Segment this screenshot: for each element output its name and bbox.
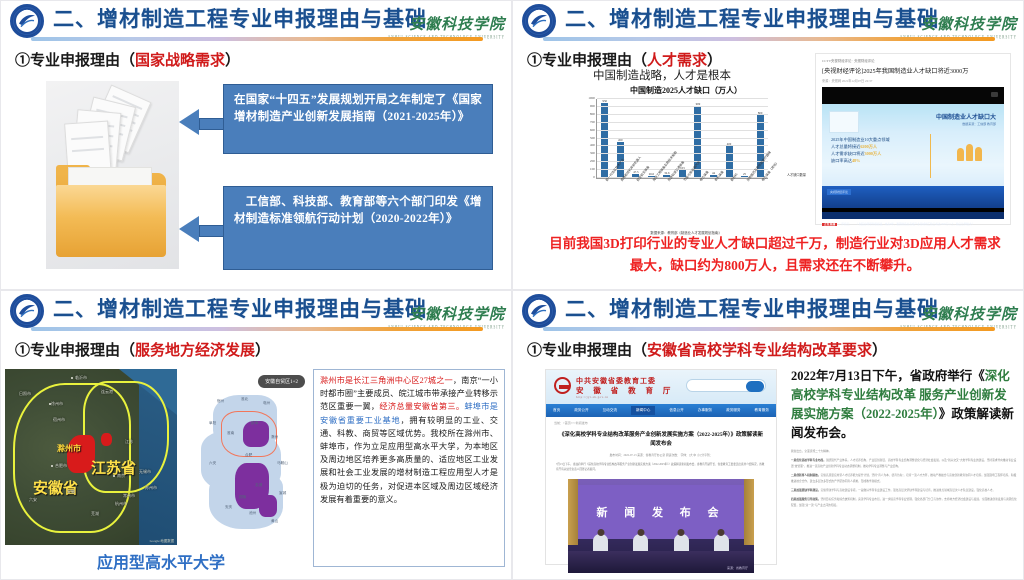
tv-stat-line-4: 缺口率高达48% — [831, 157, 890, 164]
policy-detail-paragraphs: 我省出台，全面贯彻二十大精神。 一是优化高校学科专业布局。围绕现代产业体系，人才… — [791, 449, 1017, 512]
tv-stat-line-3: 人才需求缺口将近3000万人 — [831, 150, 890, 157]
chart-title: 中国制造2025人才缺口（万人） — [566, 85, 806, 96]
search-icon[interactable] — [746, 381, 764, 392]
prov-city: 合肥 — [245, 453, 252, 458]
callout-box-standards-plan: 工信部、科技部、教育部等六个部门印发《增材制造标准领航行动计划（2020-202… — [223, 186, 493, 270]
slide-1: 二、增材制造工程专业申报理由与基础 安徽科技学院 ANHUI SCIENCE A… — [0, 0, 512, 290]
chart-gridline: 500 — [597, 138, 768, 139]
slide-4-header: 二、增材制造工程专业申报理由与基础 安徽科技学院 ANHUI SCIENCE A… — [513, 291, 1023, 333]
slide-4-subtitle: ①专业申报理由（安徽省高校学科专业结构改革要求） — [527, 339, 887, 360]
map-attribution: Google 地图数据 — [150, 538, 174, 543]
tv-stat-lines: 2025年中国制造业10大重点领域 人才总量将接近6200万人 人才需求缺口将近… — [831, 136, 890, 164]
university-signature: 安徽科技学院 ANHUI SCIENCE AND TECHNOLOGY UNIV… — [388, 303, 505, 329]
map-city: 临沂市 — [75, 375, 87, 381]
chart-gridline: 100 — [597, 169, 768, 170]
chart-bars: 95045047.526.632.61039094440025800 — [597, 99, 768, 178]
talent-gap-bar-chart: 中国制造2025人才缺口（万人） 95045047.526.632.610390… — [566, 85, 806, 235]
chart-gridline: 400 — [597, 145, 768, 146]
subtitle-highlight: 服务地方经济发展 — [135, 343, 255, 359]
extra-zone — [259, 495, 277, 517]
site-navigation[interactable]: 首页政务公开互动交流新闻中心信息公开办事服务政务服务教育服务 — [546, 404, 776, 417]
slide-title: 二、增材制造工程专业申报理由与基础 — [565, 3, 939, 33]
map-city: 苏州市 — [145, 485, 157, 491]
slide-deck: 二、增材制造工程专业申报理由与基础 安徽科技学院 ANHUI SCIENCE A… — [0, 0, 1024, 580]
chart-gridline: 300 — [597, 153, 768, 154]
policy-text-run: 2022 — [791, 369, 816, 383]
prov-city: 阜阳 — [209, 421, 216, 426]
slide-title: 二、增材制造工程专业申报理由与基础 — [53, 293, 427, 323]
prov-city: 淮南 — [227, 431, 234, 436]
panelists — [568, 531, 754, 551]
map-city: 安徽 — [67, 489, 75, 495]
tv-stat-line-2: 人才总量将接近6200万人 — [831, 143, 890, 150]
chart-y-tick: 300 — [590, 151, 595, 155]
chart-tagline: 中国制造战略，人才是根本 — [593, 67, 731, 83]
logo-bird-icon — [530, 303, 548, 319]
program-tag: 央视财经评论 — [827, 189, 851, 195]
subtitle-suffix: ） — [255, 343, 270, 359]
tv-divider — [930, 134, 931, 178]
chart-y-tick: 400 — [590, 143, 595, 147]
university-crest-logo — [522, 294, 556, 328]
slide-2-header: 二、增材制造工程专业申报理由与基础 安徽科技学院 ANHUI SCIENCE A… — [513, 1, 1023, 43]
press-banner-text: 新 闻 发 布 会 — [597, 504, 726, 520]
slide-3: 二、增材制造工程专业申报理由与基础 安徽科技学院 ANHUI SCIENCE A… — [0, 290, 512, 580]
chart-plot-area: 95045047.526.632.61039094440025800 01002… — [596, 99, 768, 179]
header-accent-rule — [31, 327, 483, 331]
prov-city: 安庆 — [225, 505, 232, 510]
subtitle-highlight: 国家战略需求 — [135, 53, 225, 69]
site-nav-item[interactable]: 办事服务 — [698, 408, 712, 413]
policy-text-run: 年 — [816, 369, 829, 383]
map-city: 常州市 — [123, 493, 135, 499]
map-city: 连云港 — [101, 389, 113, 395]
site-logo-icon — [554, 377, 571, 394]
prov-city: 六安 — [209, 461, 216, 466]
chart-bar-value: 450 — [618, 138, 623, 142]
video-player[interactable]: 中国制造业人才缺口大 数据来源：工信部 教育部 2025年中国制造业10大重点领… — [822, 87, 1004, 219]
chart-y-tick: 500 — [590, 136, 595, 140]
policy-announcement-text: 2022年7月13日下午，省政府举行《深化高校学科专业结构改革 服务产业创新发展… — [791, 367, 1017, 443]
anhui-province-diagram: 安徽自贸区1+2 宿州 淮北 亳州 阜阳 蚌埠 淮南 滁州 合肥 六安 马鞍山 … — [179, 369, 309, 545]
site-article-meta: 发布时间：2022-07-13 来源：省教育厅办公室 阅读次数： 字体：[大 中… — [546, 449, 776, 460]
chart-y-tick: 1000 — [588, 96, 595, 100]
site-nav-item[interactable]: 首页 — [553, 408, 560, 413]
chart-y-tick: 100 — [590, 167, 595, 171]
header-accent-rule — [543, 37, 995, 41]
logo-bird-icon — [18, 13, 36, 29]
policy-text-run: 日下午，省政府举行《 — [860, 369, 985, 383]
university-name-cn: 安徽科技学院 — [900, 303, 1017, 324]
prov-city: 铜陵 — [239, 495, 246, 500]
map-city: 宿州市 — [53, 417, 65, 423]
chart-y-tick: 900 — [590, 104, 595, 108]
chart-bar-value: 950 — [603, 99, 608, 103]
slide-2-conclusion-text: 目前我国3D打印行业的专业人才缺口超过千万，制造行业对3D应用人才需求最大，缺口… — [547, 233, 1003, 277]
slide-3-header: 二、增材制造工程专业申报理由与基础 安徽科技学院 ANHUI SCIENCE A… — [1, 291, 511, 333]
policy-text-run: 13 — [847, 369, 860, 383]
map-city: 杭州市 — [115, 501, 127, 507]
map-city: 芜湖 — [91, 511, 99, 517]
subtitle-prefix: ①专业申报理由（ — [15, 343, 135, 359]
prov-city: 芜湖 — [255, 483, 262, 488]
university-crest-logo — [522, 4, 556, 38]
chart-gridline: 800 — [597, 114, 768, 115]
chart-legend: 人才缺口数量 — [787, 172, 806, 177]
subtitle-highlight: 安徽省高校学科专业结构改革要求 — [647, 343, 872, 359]
university-name-cn: 安徽科技学院 — [388, 13, 505, 34]
ticker-label: 评论员： — [841, 223, 851, 226]
slide-4: 二、增材制造工程专业申报理由与基础 安徽科技学院 ANHUI SCIENCE A… — [512, 290, 1024, 580]
slide-3-footer-text: 应用型高水平大学 — [31, 549, 291, 573]
map-city: 南京 — [117, 473, 125, 479]
subtitle-prefix: ①专业申报理由（ — [15, 53, 135, 69]
paragraph-run: 经济总量安徽省第三。 — [379, 402, 464, 411]
press-conference-photo: 新 闻 发 布 会 来源：省教育厅 — [568, 479, 754, 573]
slide-2: 二、增材制造工程专业申报理由与基础 安徽科技学院 ANHUI SCIENCE A… — [512, 0, 1024, 290]
slide-title: 二、增材制造工程专业申报理由与基础 — [565, 293, 939, 323]
documents-folder-image — [46, 81, 179, 269]
chart-gridline: 700 — [597, 122, 768, 123]
prov-city: 亳州 — [263, 401, 270, 406]
tv-lower-band: 央视财经评论 — [822, 186, 1004, 208]
tv-graphic: 中国制造业人才缺口大 数据来源：工信部 教育部 2025年中国制造业10大重点领… — [822, 104, 1004, 186]
site-nav-item[interactable]: 政务公开 — [574, 408, 588, 413]
prov-city: 蚌埠 — [251, 421, 258, 426]
news-headline: [央视财经评论]2025年我国制造业人才缺口将近3000万 — [816, 63, 1010, 75]
header-accent-rule — [543, 327, 995, 331]
ticker-text: （ 制造业转型升级提速，未来3年，我国制造业高端产业领域用工缺口将达2000万以… — [856, 223, 975, 226]
policy-text-run: 月 — [835, 369, 848, 383]
folder-front — [56, 185, 166, 257]
prov-city: 淮北 — [241, 397, 248, 402]
prov-city: 宿州 — [217, 399, 224, 404]
ticker-badge: 正在直播 — [822, 223, 837, 226]
chart-bar-value: 44 — [712, 171, 715, 175]
chart-bar: 400 — [726, 146, 733, 178]
site-search-input[interactable] — [686, 379, 766, 392]
closed-caption-icon[interactable] — [991, 92, 998, 97]
map-city: 江苏 — [125, 439, 133, 445]
university-signature: 安徽科技学院 ANHUI SCIENCE AND TECHNOLOGY UNIV… — [388, 13, 505, 39]
subtitle-prefix: ①专业申报理由（ — [527, 343, 647, 359]
paragraph-run: ，拥有较明显的工业、交通、科教、商贸等区域优势。我校所在滁州市、蚌埠市，作为立足… — [320, 416, 498, 504]
logo-bird-icon — [18, 303, 36, 319]
university-crest-logo — [10, 4, 44, 38]
prov-city: 黄山 — [271, 519, 278, 524]
site-nav-item[interactable]: 信息公开 — [669, 408, 683, 413]
site-masthead: 中共安徽省委教育工委 安 徽 省 教 育 厅 http://jyt.ah.gov… — [546, 370, 776, 404]
prov-city: 池州 — [249, 511, 256, 516]
subtitle-suffix: ） — [872, 343, 887, 359]
player-top-bar — [822, 87, 1004, 104]
news-ticker: 正在直播 评论员： （ 制造业转型升级提速，未来3年，我国制造业高端产业领域用工… — [822, 212, 1004, 219]
tv-title: 中国制造业人才缺口大 — [936, 112, 996, 121]
callout-box-national-plan: 在国家“十四五”发展规划开局之年制定了《国家增材制造产业创新发展指南（2021-… — [223, 84, 493, 154]
prov-city: 宣城 — [279, 491, 286, 496]
map-city: 徐州市 — [51, 401, 63, 407]
chart-y-tick: 800 — [590, 112, 595, 116]
map-city: 六安 — [29, 497, 37, 503]
university-name-cn: 安徽科技学院 — [900, 13, 1017, 34]
press-photo-credit: 来源：省教育厅 — [727, 566, 748, 570]
tv-stat-line-1: 2025年中国制造业10大重点领域 — [831, 136, 890, 143]
site-nav-item[interactable]: 新闻中心 — [631, 406, 655, 415]
free-trade-zone-tag: 安徽自贸区1+2 — [258, 375, 305, 388]
bengbu-highlight — [101, 433, 112, 446]
university-signature: 安徽科技学院 ANHUI SCIENCE AND TECHNOLOGY UNIV… — [900, 303, 1017, 329]
chart-y-tick: 0 — [593, 175, 595, 179]
chart-gridline: 1000 — [597, 98, 768, 99]
site-article-body: 7月13日下午，省政府举行《深化高校学科专业结构改革服务产业创新发展实施方案（2… — [546, 460, 776, 474]
site-nav-item[interactable]: 政务服务 — [726, 408, 740, 413]
site-nav-item[interactable]: 互动交流 — [603, 408, 617, 413]
tv-subtitle: 数据来源：工信部 教育部 — [962, 122, 996, 126]
cctv-news-screenshot: CCTV央视财经评论 · 央视财经评论 [央视财经评论]2025年我国制造业人才… — [815, 53, 1011, 225]
chart-x-axis-labels: 新一代信息技术产业高档数控机床和机器人航空航天装备海洋工程装备及高技术船舶先进轨… — [596, 179, 768, 221]
university-signature: 安徽科技学院 ANHUI SCIENCE AND TECHNOLOGY UNIV… — [900, 13, 1017, 39]
regional-economy-paragraph: 滁州市是长江三角洲中心区27城之一，南京“一小时都市圈”主要成员、皖江城市带承接… — [313, 369, 505, 567]
university-crest-logo — [10, 294, 44, 328]
prov-city: 滁州 — [271, 435, 278, 440]
subtitle-suffix: ） — [225, 53, 240, 69]
callout-1-arrow-head — [179, 109, 199, 135]
prov-city: 马鞍山 — [277, 461, 288, 466]
education-department-website-screenshot: 中共安徽省委教育工委 安 徽 省 教 育 厅 http://jyt.ah.gov… — [545, 369, 777, 565]
callout-2-arrow-head — [179, 216, 199, 242]
chart-y-tick: 600 — [590, 128, 595, 132]
slide-1-header: 二、增材制造工程专业申报理由与基础 安徽科技学院 ANHUI SCIENCE A… — [1, 1, 511, 43]
map-city: 日照市 — [19, 391, 31, 397]
chart-bar-value: 25 — [743, 172, 746, 176]
site-breadcrumb: 当前：>首页>>>新闻发布 — [546, 417, 776, 427]
chart-gridline: 600 — [597, 130, 768, 131]
university-name-cn: 安徽科技学院 — [388, 303, 505, 324]
header-accent-rule — [31, 37, 483, 41]
site-url: http://jyt.ah.gov.cn — [576, 395, 609, 399]
news-meta: 来源：央视网 2021年12月07日 22:37 — [816, 75, 1010, 87]
satellite-map-image: 滁州市 安徽省 江苏省 临沂市 日照市 连云港 徐州市 宿州市 合肥市 江苏 南… — [5, 369, 177, 545]
chart-y-tick: 200 — [590, 159, 595, 163]
tv-corner-card — [829, 111, 859, 133]
paragraph-run: 滁州市是长江三角洲中心区27城之一 — [320, 376, 453, 385]
site-nav-item[interactable]: 教育服务 — [755, 408, 769, 413]
people-figures-icon — [957, 144, 982, 161]
chart-gridline: 900 — [597, 106, 768, 107]
slide-1-subtitle: ①专业申报理由（国家战略需求） — [15, 49, 240, 70]
map-city: 合肥市 — [55, 463, 67, 469]
chart-y-tick: 700 — [590, 120, 595, 124]
slide-3-subtitle: ①专业申报理由（服务地方经济发展） — [15, 339, 270, 360]
slide-title: 二、增材制造工程专业申报理由与基础 — [53, 3, 427, 33]
map-city: 无锡市 — [139, 469, 151, 475]
site-article-title: 《深化高校学科专业结构改革服务产业创新发展实施方案（2022-2025年）》政策… — [546, 427, 776, 449]
logo-bird-icon — [530, 13, 548, 29]
news-kicker: CCTV央视财经评论 · 央视财经评论 — [816, 54, 1010, 63]
map-label-chuzhou: 滁州市 — [57, 443, 81, 454]
